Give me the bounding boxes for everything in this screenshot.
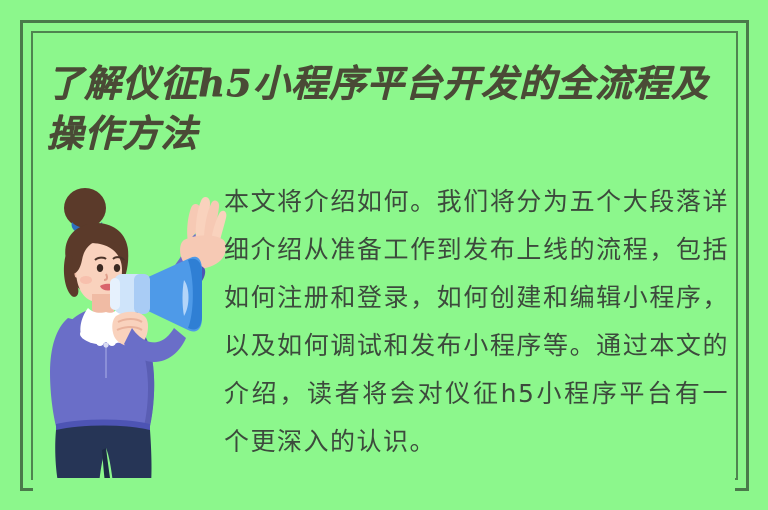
eye-right	[114, 264, 120, 272]
body-paragraph: 本文将介绍如何。我们将分为五个大段落详细介绍从准备工作到发布上线的流程，包括如何…	[224, 178, 729, 466]
hair-bun	[64, 188, 106, 228]
eye-left	[97, 264, 103, 272]
cheek-blush	[80, 276, 92, 284]
poster-canvas: 了解仪征h5小程序平台开发的全流程及操作方法	[0, 0, 768, 510]
zipper-pull	[103, 342, 108, 347]
woman-with-megaphone-illustration	[38, 182, 228, 480]
illustration-bottom-mask	[33, 478, 735, 510]
megaphone-back-cap	[110, 278, 120, 310]
page-title: 了解仪征h5小程序平台开发的全流程及操作方法	[46, 58, 736, 158]
